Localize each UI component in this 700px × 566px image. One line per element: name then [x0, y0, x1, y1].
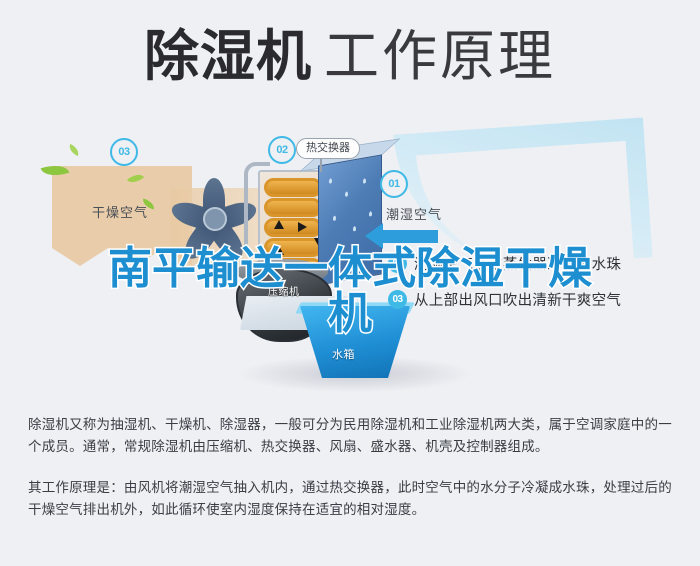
- step-item: 02 潮湿空气经过蒸发器冷凝成水珠: [388, 248, 688, 278]
- title-sub: 工作原理: [324, 26, 556, 86]
- fan-hub: [203, 207, 227, 231]
- badge-02: 02: [268, 136, 296, 164]
- page-title: 除湿机工作原理: [0, 26, 700, 86]
- step-number: 02: [388, 254, 407, 273]
- label-water-tank: 水箱: [332, 346, 355, 362]
- label-dry-air: 干燥空气: [92, 202, 148, 221]
- callout-heat-exchanger-label: 热交换器: [306, 142, 350, 154]
- callout-heat-exchanger: 热交换器: [296, 138, 360, 159]
- title-main: 除湿机: [144, 26, 312, 86]
- paragraph-principle: 其工作原理是：由风机将潮湿空气抽入机内，通过热交换器，此时空气中的水分子冷凝成水…: [28, 477, 676, 521]
- step-list: 02 潮湿空气经过蒸发器冷凝成水珠 03 从上部出风口吹出清新干爽空气: [388, 248, 688, 320]
- evaporator-fins: [318, 154, 382, 285]
- label-humid-air: 潮湿空气: [386, 204, 442, 223]
- description-block: 除湿机又称为抽湿机、干燥机、除湿器，一般可分为民用除湿机和工业除湿机两大类，属于…: [28, 414, 676, 540]
- callout-tail: [320, 158, 322, 172]
- infographic-page: 除湿机工作原理: [0, 0, 700, 566]
- leaf-icon: [67, 144, 81, 156]
- air-inlet-arrow: [382, 230, 438, 243]
- badge-01: 01: [380, 170, 408, 198]
- step-text: 潮湿空气经过蒸发器冷凝成水珠: [414, 253, 621, 274]
- paragraph-definition: 除湿机又称为抽湿机、干燥机、除湿器，一般可分为民用除湿机和工业除湿机两大类，属于…: [28, 414, 676, 458]
- step-item: 03 从上部出风口吹出清新干爽空气: [388, 284, 688, 314]
- step-number: 03: [388, 290, 407, 309]
- badge-03: 03: [110, 138, 138, 166]
- step-text: 从上部出风口吹出清新干爽空气: [414, 289, 621, 310]
- label-compressor: 压缩机: [268, 283, 300, 298]
